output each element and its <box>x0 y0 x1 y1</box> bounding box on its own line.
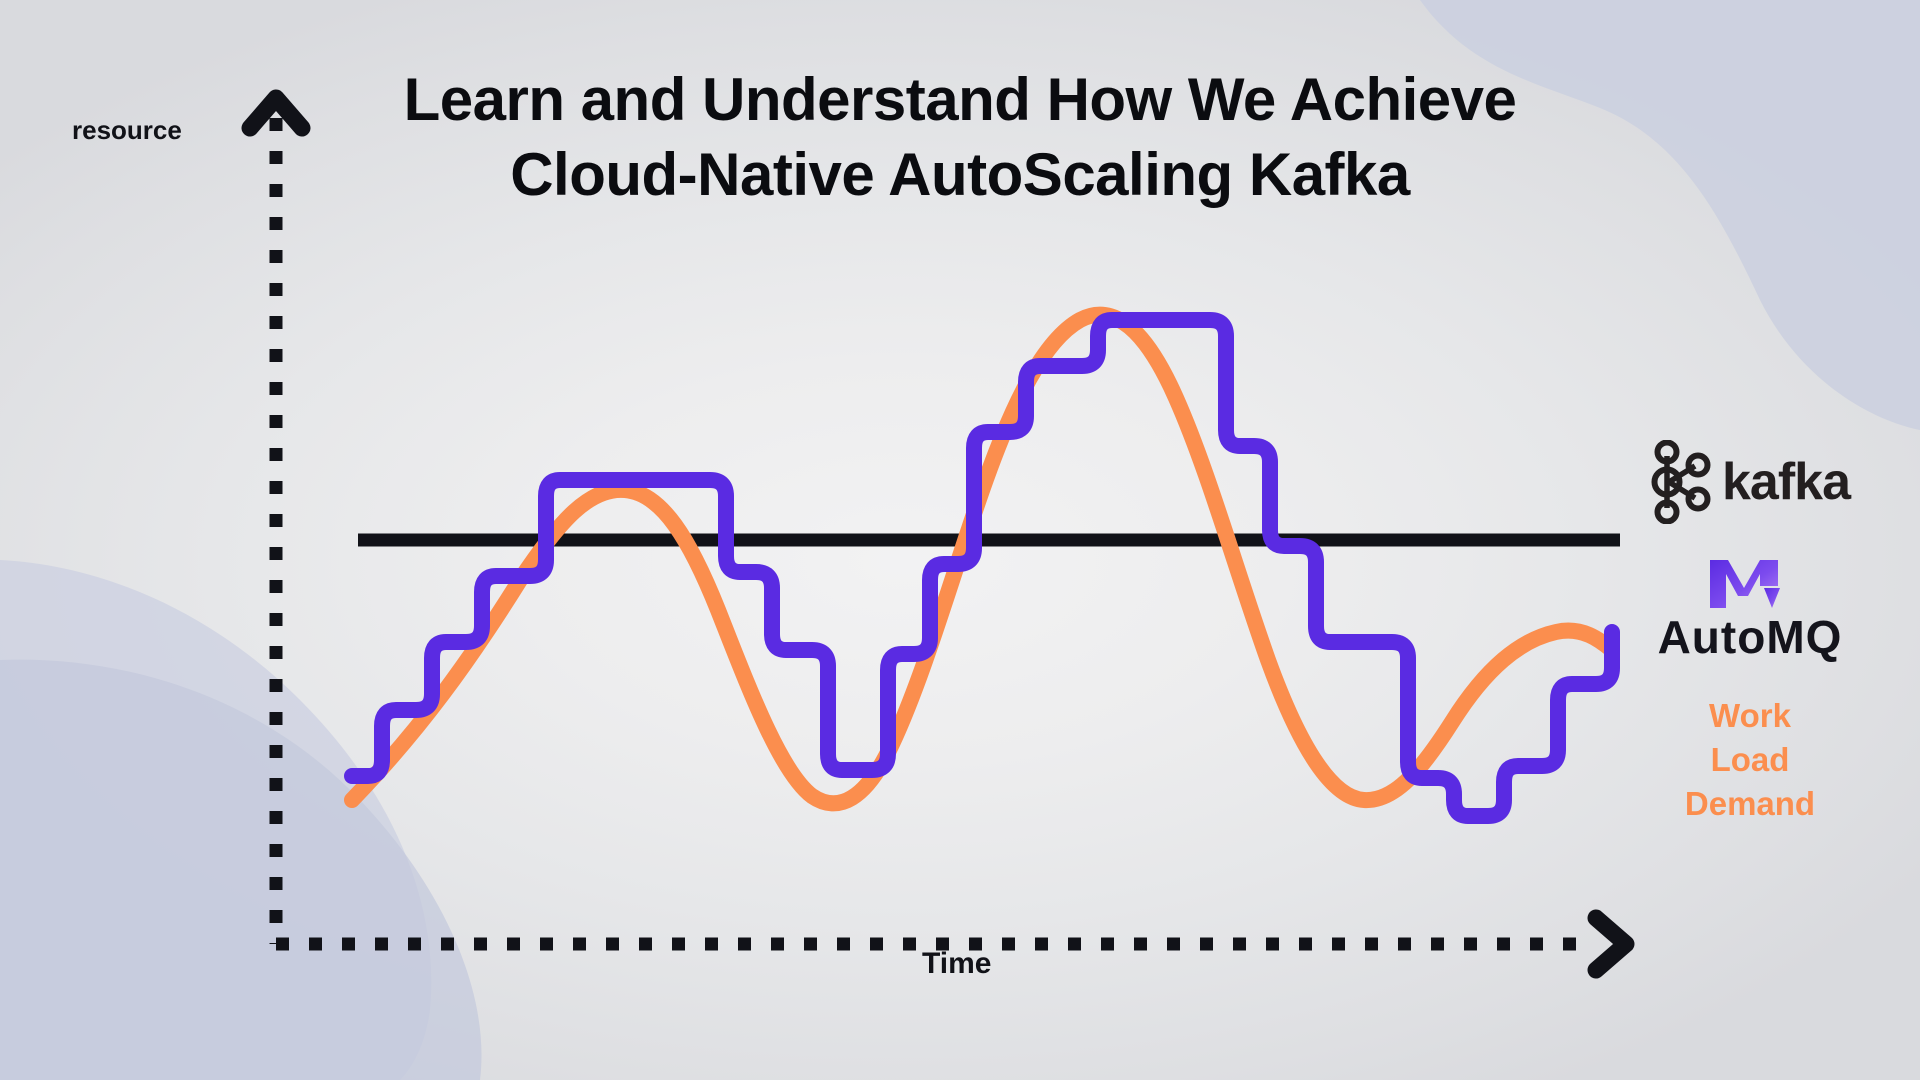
x-axis-arrow-icon <box>1596 918 1626 970</box>
x-axis-label: Time <box>922 947 991 981</box>
workload-legend-line-2: Load <box>1685 738 1815 782</box>
automq-logo: AutoMQ <box>1658 552 1843 660</box>
kafka-icon <box>1650 440 1712 524</box>
y-axis <box>250 98 302 944</box>
workload-demand-legend: Work Load Demand <box>1685 694 1815 827</box>
automq-mark-icon <box>1702 552 1798 612</box>
legend-panel: kafka AutoMQ Work Load Demand <box>1620 440 1880 827</box>
y-axis-label: resource <box>72 115 182 146</box>
workload-legend-line-3: Demand <box>1685 782 1815 826</box>
kafka-wordmark: kafka <box>1722 456 1850 508</box>
autoscaling-step-curve <box>352 320 1612 816</box>
automq-wordmark: AutoMQ <box>1658 614 1843 660</box>
workload-legend-line-1: Work <box>1685 694 1815 738</box>
kafka-logo: kafka <box>1650 440 1850 524</box>
